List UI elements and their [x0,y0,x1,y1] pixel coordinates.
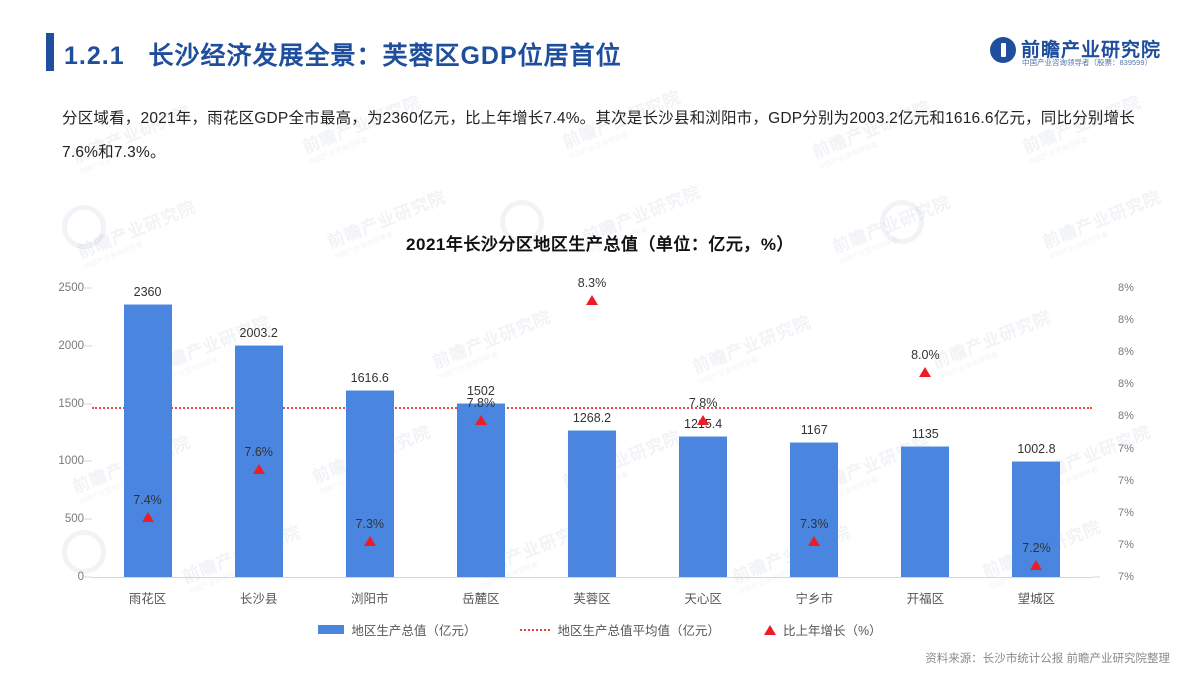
y-axis-right-tick: 8% [1118,282,1134,294]
growth-rate-label: 7.3% [356,517,385,531]
growth-rate-label: 8.3% [578,276,607,290]
growth-rate-marker[interactable] [919,367,931,377]
y-axis-right-tick: 7% [1118,475,1134,487]
section-number: 1.2.1 [64,42,125,70]
y-axis-tick-mark [84,519,92,520]
y-axis-tick-mark [84,288,92,289]
growth-rate-marker[interactable] [142,512,154,522]
growth-rate-label: 8.0% [911,348,940,362]
x-axis-label: 宁乡市 [795,588,833,607]
slide-page: 前瞻产业研究院中国产业咨询领导者前瞻产业研究院中国产业咨询领导者前瞻产业研究院中… [0,0,1200,675]
growth-rate-label: 7.3% [800,517,829,531]
x-axis-label: 岳麓区 [462,588,500,607]
growth-rate-marker[interactable] [586,295,598,305]
y-axis-tick-mark [84,577,92,578]
y-axis-right-tick: 7% [1118,539,1134,551]
brand-logo: 前瞻产业研究院 中国产业咨询领导者（股票：839599） [990,34,1176,74]
bar-value-label: 1268.2 [573,411,611,425]
x-axis-label: 开福区 [907,588,945,607]
source-note: 资料来源：长沙市统计公报 前瞻产业研究院整理 [925,650,1170,666]
y-axis-right-tick: 7% [1118,443,1134,455]
legend-bar-swatch-icon [318,625,344,634]
growth-rate-marker[interactable] [1030,560,1042,570]
y-axis-tick-mark [84,345,92,346]
growth-rate-marker[interactable] [364,536,376,546]
legend-dotted-line-icon [520,629,550,631]
legend-triangle-icon [764,625,776,635]
legend-label: 地区生产总值平均值（亿元） [557,620,720,639]
y-axis-left-tick: 2500 [58,282,84,294]
x-axis-label: 长沙县 [240,588,278,607]
y-axis-left-tick: 500 [65,513,84,525]
growth-rate-marker[interactable] [475,415,487,425]
y-axis-right-tick: 7% [1118,571,1134,583]
growth-rate-label: 7.8% [467,396,496,410]
growth-rate-label: 7.2% [1022,541,1051,555]
x-axis-label: 雨花区 [129,588,167,607]
bar-value-label: 1135 [912,427,939,441]
growth-rate-label: 7.4% [133,493,162,507]
y-axis-left-tick: 2000 [58,340,84,352]
bar-value-label: 1002.8 [1017,442,1055,456]
section-title: 长沙经济发展全景：芙蓉区GDP位居首位 [148,42,621,70]
bar-value-label: 1167 [801,423,828,437]
legend-item[interactable]: 地区生产总值（亿元） [318,620,476,639]
x-axis-label: 浏阳市 [351,588,389,607]
y-axis-right-tick: 8% [1118,346,1134,358]
growth-rate-marker[interactable] [697,415,709,425]
logo-subtitle: 中国产业咨询领导者（股票：839599） [1022,57,1152,68]
legend-label: 比上年增长（%） [783,620,882,639]
y-axis-right-tick: 7% [1118,507,1134,519]
x-axis-line [92,577,1092,578]
legend-item[interactable]: 比上年增长（%） [764,620,882,639]
chart-bar[interactable] [790,442,838,577]
growth-rate-label: 7.6% [244,445,273,459]
chart-bar[interactable] [124,304,172,577]
growth-rate-marker[interactable] [253,464,265,474]
watermark-text: 前瞻产业研究院中国产业咨询领导者 [828,188,958,268]
page-title: 1.2.1 长沙经济发展全景：芙蓉区GDP位居首位 [64,36,622,72]
chart-bar[interactable] [901,446,949,577]
y-axis-right: 7%7%7%7%7%8%8%8%8%8% [1118,288,1158,577]
chart-bar[interactable] [235,345,283,577]
y-axis-tick-mark [84,461,92,462]
chart-bar[interactable] [679,436,727,577]
x-axis-label: 望城区 [1018,588,1056,607]
qianzhan-logo-icon [990,37,1016,63]
y-axis-tick-mark [84,403,92,404]
y-axis-left-tick: 1500 [58,398,84,410]
chart-bar[interactable] [568,430,616,577]
header-accent-bar [46,33,54,71]
growth-rate-marker[interactable] [808,536,820,546]
bar-value-label: 1616.6 [351,371,389,385]
chart-bar[interactable] [346,390,394,577]
y-axis-right-tick-mark [1092,577,1100,578]
legend-item[interactable]: 地区生产总值平均值（亿元） [520,620,720,639]
chart-bar[interactable] [457,403,505,577]
growth-rate-label: 7.8% [689,396,718,410]
y-axis-left: 05001000150020002500 [40,288,84,577]
bar-value-label: 2360 [134,285,162,299]
legend-label: 地区生产总值（亿元） [351,620,476,639]
bar-value-label: 2003.2 [240,326,278,340]
intro-paragraph: 分区域看，2021年，雨花区GDP全市最高，为2360亿元，比上年增长7.4%。… [62,102,1152,170]
x-axis-label: 芙蓉区 [573,588,611,607]
y-axis-right-tick: 8% [1118,410,1134,422]
y-axis-right-tick: 8% [1118,314,1134,326]
y-axis-right-tick: 8% [1118,378,1134,390]
chart-title: 2021年长沙分区地区生产总值（单位：亿元，%） [0,230,1200,255]
chart-legend: 地区生产总值（亿元）地区生产总值平均值（亿元）比上年增长（%） [0,620,1200,639]
x-axis-label: 天心区 [684,588,722,607]
y-axis-left-tick: 1000 [58,455,84,467]
